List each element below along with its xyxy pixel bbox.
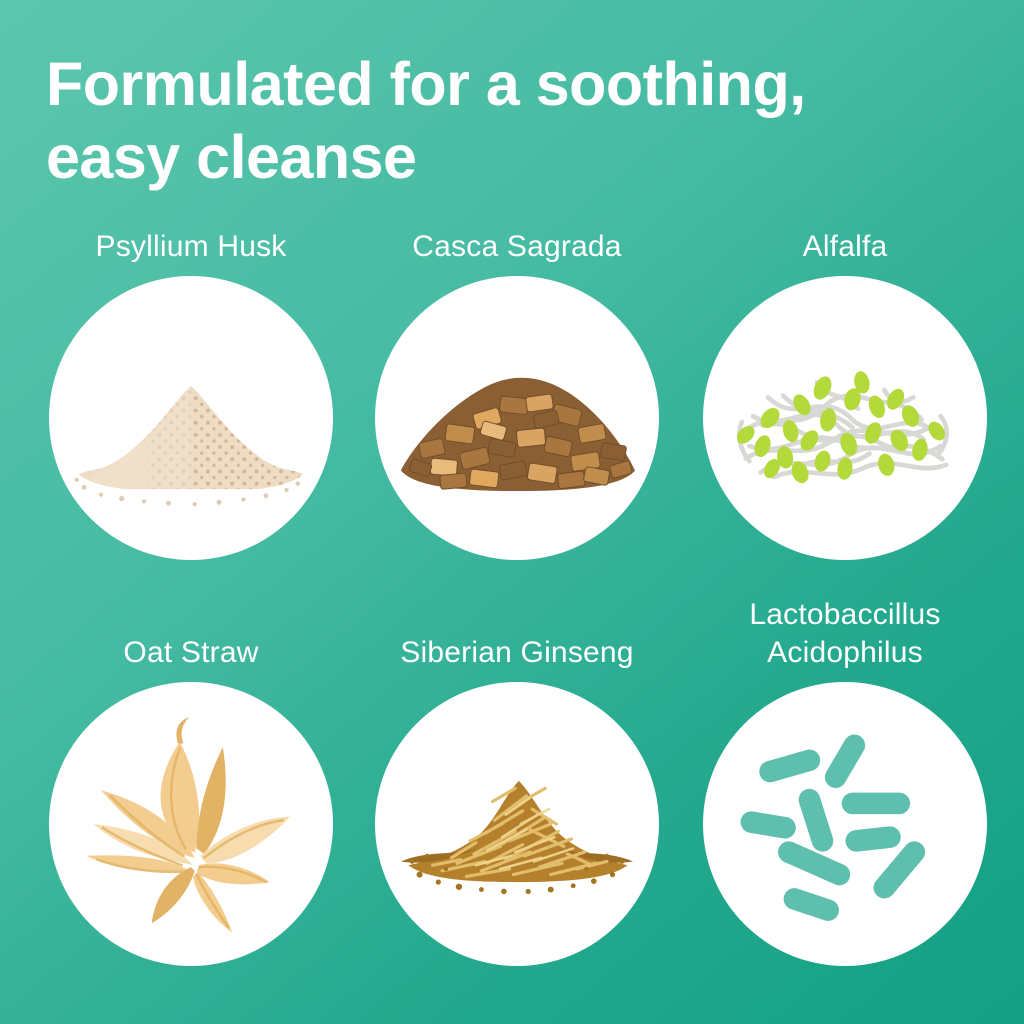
ingredient-card-alfalfa[interactable]: Alfalfa: [680, 228, 1010, 560]
ingredient-label: Lactobaccillus Acidophilus: [680, 596, 1010, 672]
oat-straw-stalks-icon: [58, 691, 324, 957]
ingredient-card-psyllium-husk[interactable]: Psyllium Husk: [26, 228, 356, 560]
psyllium-husk-powder-icon: [58, 285, 324, 551]
alfalfa-sprouts-icon: [712, 285, 978, 551]
ingredient-card-siberian-ginseng[interactable]: Siberian Ginseng: [352, 634, 682, 966]
ingredient-label: Alfalfa: [680, 228, 1010, 266]
ingredient-card-casca-sagrada[interactable]: Casca Sagrada: [352, 228, 682, 560]
ingredient-image-wrap: [49, 682, 333, 966]
ingredient-grid: Psyllium Husk: [0, 0, 1024, 1024]
ingredient-circle: [703, 682, 987, 966]
ingredient-label: Oat Straw: [26, 634, 356, 672]
probiotic-bacteria-rods-icon: [712, 691, 978, 957]
shredded-root-pile-icon: [384, 691, 650, 957]
ingredient-image-wrap: [703, 276, 987, 560]
ingredient-label: Siberian Ginseng: [352, 634, 682, 672]
infographic-canvas: Formulated for a soothing, easy cleanse …: [0, 0, 1024, 1024]
ingredient-image-wrap: [49, 276, 333, 560]
ingredient-image-wrap: [703, 682, 987, 966]
ingredient-image-wrap: [375, 276, 659, 560]
bark-chips-pile-icon: [384, 285, 650, 551]
ingredient-circle: [703, 276, 987, 560]
ingredient-card-lactobaccillus-acidophilus[interactable]: Lactobaccillus Acidophilus: [680, 596, 1010, 966]
ingredient-circle: [375, 682, 659, 966]
ingredient-label: Psyllium Husk: [26, 228, 356, 266]
ingredient-circle: [49, 682, 333, 966]
ingredient-card-oat-straw[interactable]: Oat Straw: [26, 634, 356, 966]
ingredient-circle: [375, 276, 659, 560]
ingredient-circle: [49, 276, 333, 560]
ingredient-label: Casca Sagrada: [352, 228, 682, 266]
ingredient-image-wrap: [375, 682, 659, 966]
